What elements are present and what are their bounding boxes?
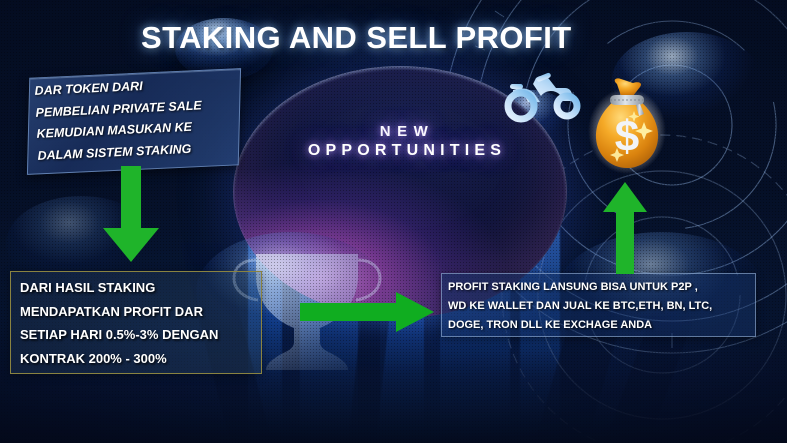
panel-yield-line: DARI HASIL STAKING (20, 276, 270, 300)
panel-yield-text: DARI HASIL STAKING MENDAPATKAN PROFIT DA… (20, 276, 270, 371)
arrow-right-icon (300, 292, 436, 332)
panel-yield-line: SETIAP HARI 0.5%-3% DENGAN (20, 323, 270, 347)
presentation-slide: STAKING AND SELL PROFIT NEW OPPORTUNITIE… (0, 0, 787, 443)
center-headline-line2: OPPORTUNITIES (272, 141, 542, 161)
panel-withdraw-line: PROFIT STAKING LANSUNG BISA UNTUK P2P , (448, 278, 768, 297)
center-headline: NEW OPPORTUNITIES (272, 122, 542, 162)
arrow-up-icon (601, 182, 649, 276)
center-headline-line1: NEW (272, 122, 542, 141)
panel-source-text: DAR TOKEN DARI PEMBELIAN PRIVATE SALE KE… (34, 71, 253, 167)
page-title: STAKING AND SELL PROFIT (141, 20, 572, 56)
panel-withdraw-text: PROFIT STAKING LANSUNG BISA UNTUK P2P , … (448, 278, 768, 335)
arrow-down-icon (99, 166, 163, 264)
panel-withdraw-line: DOGE, TRON DLL KE EXCHAGE ANDA (448, 316, 768, 335)
panel-yield-line: MENDAPATKAN PROFIT DAR (20, 300, 270, 324)
panel-withdraw-line: WD KE WALLET DAN JUAL KE BTC,ETH, BN, LT… (448, 297, 768, 316)
money-bag-icon: $ (588, 76, 666, 176)
panel-yield-line: KONTRAK 200% - 300% (20, 347, 270, 371)
motorcycle-icon (500, 72, 582, 124)
